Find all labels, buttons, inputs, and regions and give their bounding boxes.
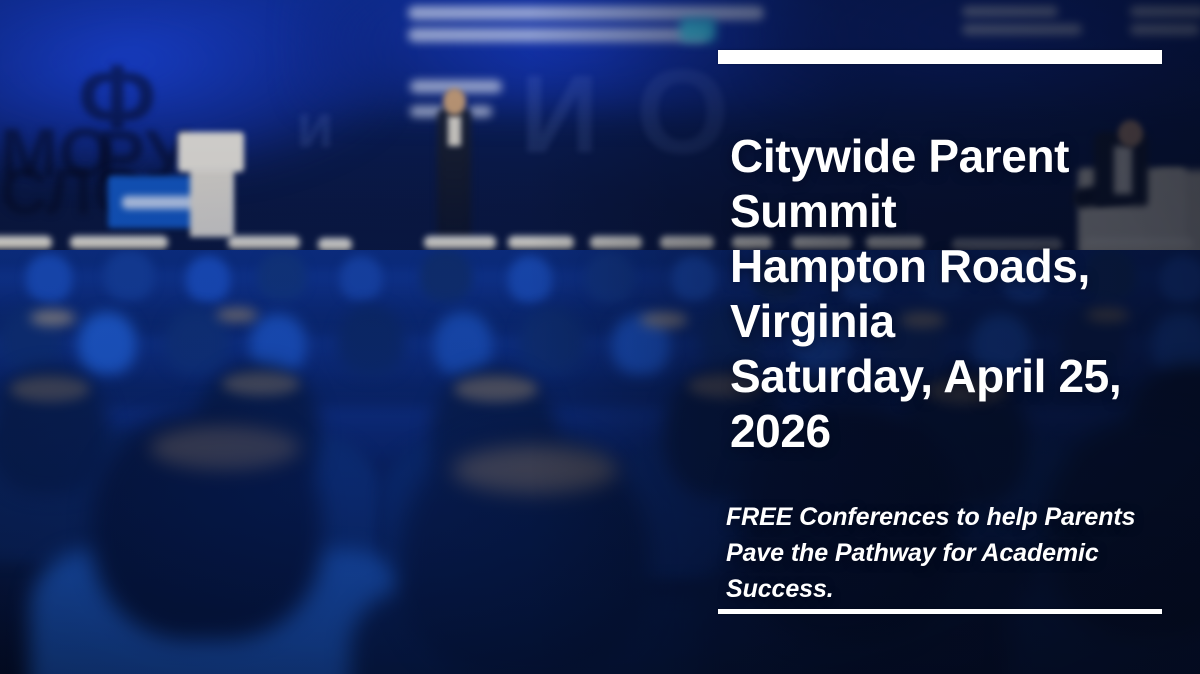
top-divider-rule (718, 50, 1162, 64)
podium-top (178, 132, 244, 172)
event-banner: Ф РУ И О и МО СЛО (0, 0, 1200, 674)
text-overlay: Citywide Parent Summit Hampton Roads, Vi… (718, 0, 1188, 674)
slide-text-line (468, 106, 492, 117)
bottom-divider-rule (718, 609, 1162, 614)
slide-text-line (408, 28, 708, 42)
stage-speaker-head (443, 88, 466, 115)
event-title: Citywide Parent Summit Hampton Roads, Vi… (730, 129, 1188, 459)
stage-speaker-shirt (448, 116, 461, 146)
podium-body (190, 165, 234, 237)
event-subtitle: FREE Conferences to help Parents Pave th… (726, 499, 1146, 607)
slide-arrow-icon (680, 18, 716, 42)
